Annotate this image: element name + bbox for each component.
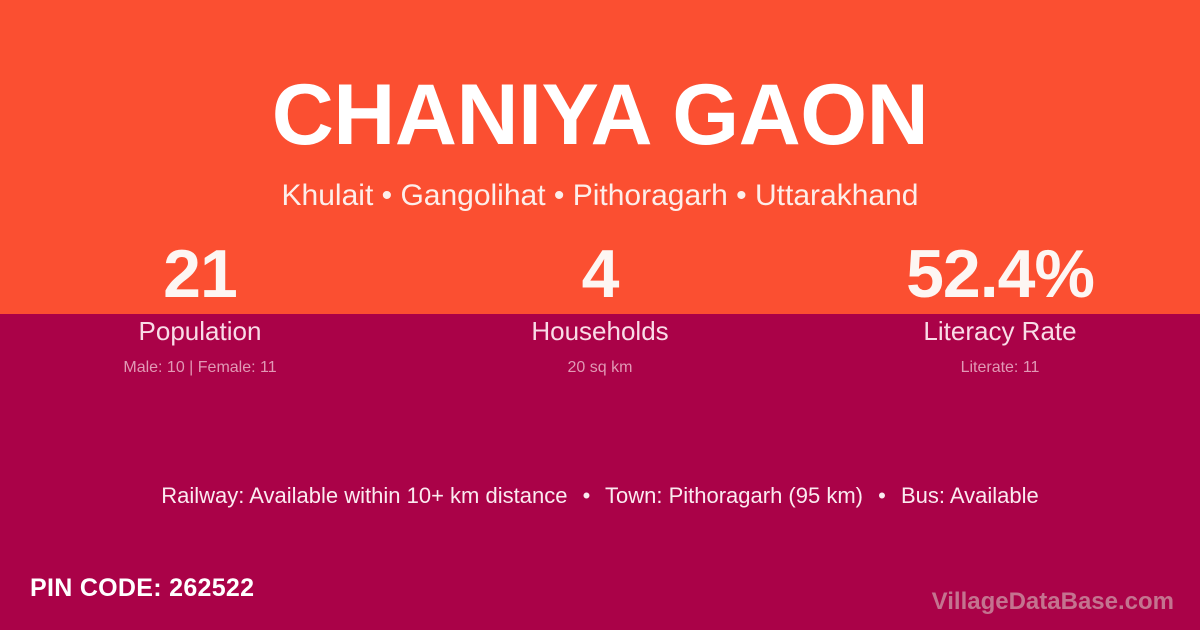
pin-code: PIN CODE: 262522 (30, 576, 254, 601)
stat-population: 21 Population Male: 10 | Female: 11 (0, 240, 400, 385)
stat-sublabel: Male: 10 | Female: 11 (123, 360, 276, 376)
infrastructure-line: Railway: Available within 10+ km distanc… (0, 485, 1200, 507)
infra-railway: Railway: Available within 10+ km distanc… (161, 483, 567, 508)
infra-bus: Bus: Available (901, 483, 1039, 508)
stat-value: 4 (582, 240, 619, 314)
location-breadcrumb: Khulait • Gangolihat • Pithoragarh • Utt… (0, 181, 1200, 211)
stat-label: Literacy Rate (923, 318, 1076, 344)
stat-label: Households (531, 318, 668, 344)
infra-town: Town: Pithoragarh (95 km) (605, 483, 863, 508)
stat-value: 21 (163, 240, 237, 314)
stat-households: 4 Households 20 sq km (400, 240, 800, 385)
stats-row: 21 Population Male: 10 | Female: 11 4 Ho… (0, 240, 1200, 385)
infra-separator-1: • (574, 485, 600, 507)
site-branding: VillageDataBase.com (932, 590, 1174, 614)
infra-separator-2: • (869, 485, 895, 507)
page-title: CHANIYA GAON (0, 72, 1200, 158)
stat-label: Population (139, 318, 262, 344)
stat-sublabel: 20 sq km (568, 360, 633, 376)
stat-literacy-rate: 52.4% Literacy Rate Literate: 11 (800, 240, 1200, 385)
village-info-card: CHANIYA GAON Khulait • Gangolihat • Pith… (0, 0, 1200, 630)
stat-value: 52.4% (906, 240, 1094, 314)
stat-sublabel: Literate: 11 (961, 360, 1040, 376)
